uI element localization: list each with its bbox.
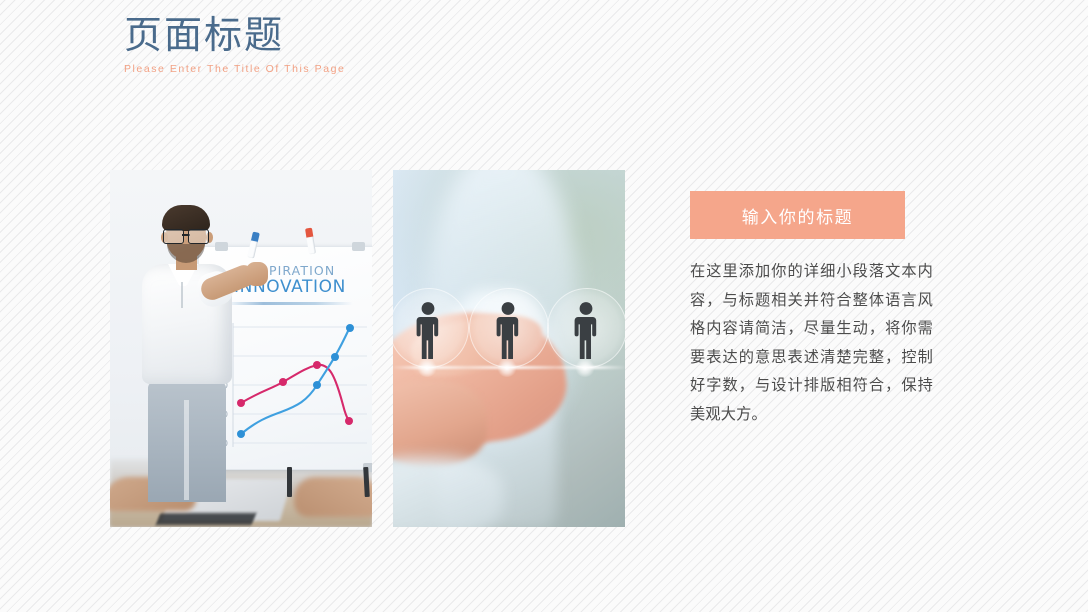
person-icon-svg: [572, 301, 600, 359]
presenter-hand: [246, 262, 268, 286]
person-icon-svg: [414, 301, 442, 359]
content-title-label: 输入你的标题: [742, 203, 854, 228]
presenter-beard: [167, 244, 205, 263]
glasses-lens-right: [188, 229, 209, 244]
person-icon-svg: [494, 301, 522, 359]
glasses-icon: [160, 229, 212, 242]
person-icon: [494, 301, 522, 359]
page-title: 页面标题: [124, 16, 604, 57]
chart-series-pink: [241, 365, 349, 421]
slide-canvas: 页面标题 Please Enter The Title Of This Page…: [0, 0, 1088, 612]
photo-finger-person-icons: [393, 170, 625, 527]
knuckles: [393, 380, 487, 466]
wrist-blur: [393, 457, 503, 527]
presenter-placket: [181, 282, 183, 308]
person-icon: [572, 301, 600, 359]
laptop-base: [156, 513, 257, 525]
photo-whiteboard-presenter: INSPIRATION INNOVATION 40: [110, 170, 372, 527]
whiteboard-clip-right: [352, 242, 365, 251]
presenter-hair: [162, 205, 210, 231]
content-title-box: 输入你的标题: [690, 191, 905, 239]
audience-hand-right: [294, 477, 372, 517]
presenter-leg-gap: [184, 400, 189, 500]
person-icon: [414, 301, 442, 359]
header: 页面标题 Please Enter The Title Of This Page: [124, 16, 604, 75]
chart-series-blue: [241, 329, 349, 434]
content-paragraph: 在这里添加你的详细小段落文本内容，与标题相关并符合整体语言风格内容请简洁，尽量生…: [690, 258, 933, 429]
page-subtitle: Please Enter The Title Of This Page: [124, 63, 604, 75]
whiteboard-leg-2: [287, 467, 292, 497]
presenter-figure: [128, 200, 256, 500]
glasses-lens-left: [163, 229, 184, 244]
